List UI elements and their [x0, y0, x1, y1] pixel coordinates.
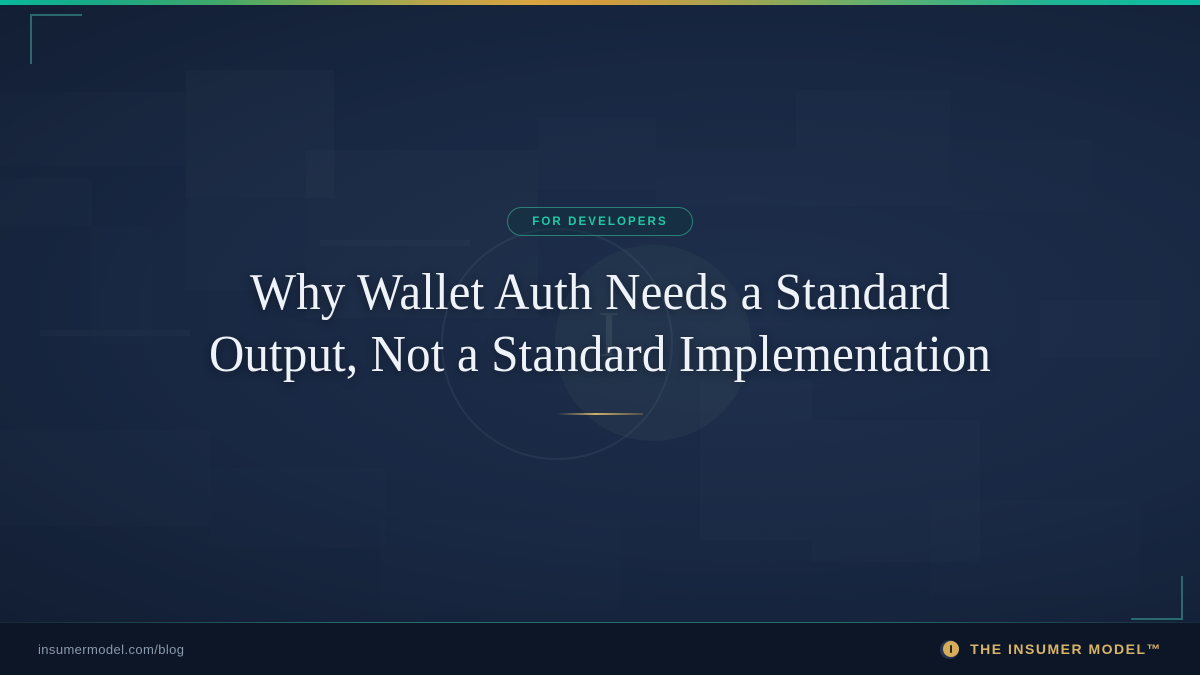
page-title: Why Wallet Auth Needs a Standard Output,…	[177, 262, 1023, 385]
insumer-coin-icon	[940, 640, 959, 659]
footer-bar: insumermodel.com/blog THE INSUMER MODEL™	[0, 623, 1200, 675]
gold-divider	[557, 413, 643, 415]
hero-content: For Developers Why Wallet Auth Needs a S…	[0, 0, 1200, 622]
footer-url[interactable]: insumermodel.com/blog	[38, 642, 184, 657]
share-card-canvas: I For Developers Why Wallet Auth Needs a…	[0, 0, 1200, 675]
brand-lockup: THE INSUMER MODEL™	[940, 640, 1162, 659]
category-badge: For Developers	[507, 207, 692, 236]
top-accent-bar	[0, 0, 1200, 5]
brand-name: THE INSUMER MODEL™	[970, 641, 1162, 657]
